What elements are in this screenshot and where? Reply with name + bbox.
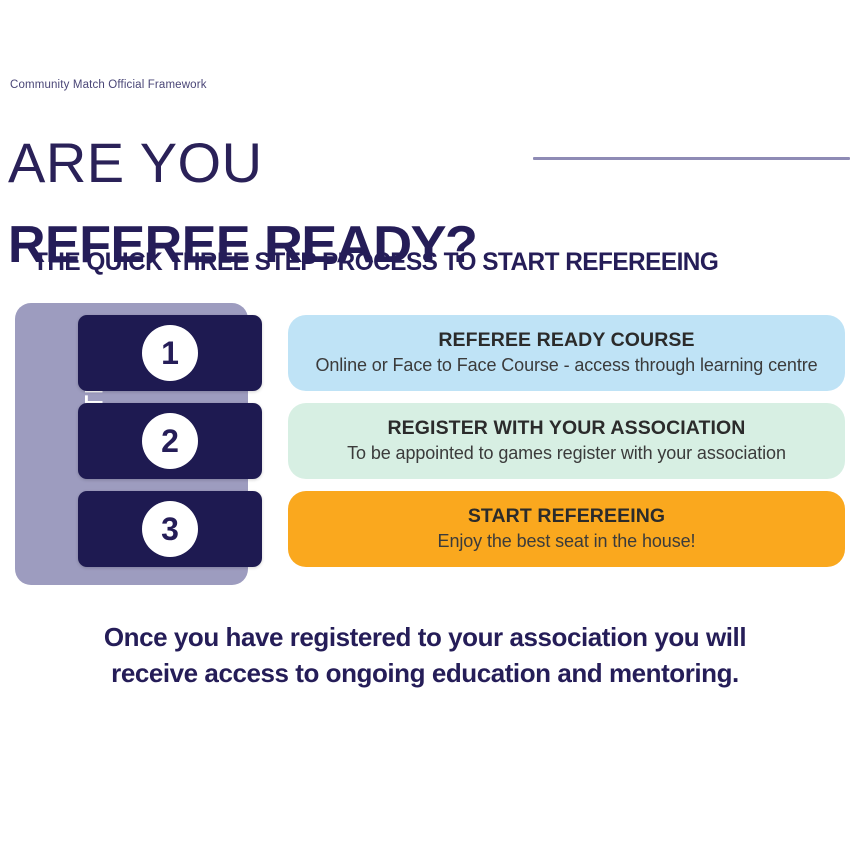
footer-note: Once you have registered to your associa… [0, 620, 850, 692]
step-info-card-1: REFEREE READY COURSE Online or Face to F… [288, 315, 845, 391]
step-number-badge-3: 3 [142, 501, 198, 557]
step-number-card-2: 2 [78, 403, 262, 479]
step-description-3: Enjoy the best seat in the house! [438, 531, 696, 553]
subheading: THE QUICK THREE STEP PROCESS TO START RE… [33, 248, 718, 277]
footer-note-line2: receive access to ongoing education and … [40, 656, 810, 692]
step-info-card-2: REGISTER WITH YOUR ASSOCIATION To be app… [288, 403, 845, 479]
page-title-line1: ARE YOU [8, 134, 263, 193]
step-number-card-1: 1 [78, 315, 262, 391]
header-divider-rule [533, 157, 850, 160]
step-number-badge-2: 2 [142, 413, 198, 469]
eyebrow-text: Community Match Official Framework [10, 79, 207, 91]
step-title-2: REGISTER WITH YOUR ASSOCIATION [388, 417, 746, 440]
step-title-3: START REFEREEING [468, 505, 665, 528]
step-description-1: Online or Face to Face Course - access t… [315, 355, 817, 377]
step-number-badge-1: 1 [142, 325, 198, 381]
step-number-card-3: 3 [78, 491, 262, 567]
step-description-2: To be appointed to games register with y… [347, 443, 786, 465]
step-info-card-3: START REFEREEING Enjoy the best seat in … [288, 491, 845, 567]
infographic-poster: Community Match Official Framework ARE Y… [0, 0, 850, 846]
footer-note-line1: Once you have registered to your associa… [40, 620, 810, 656]
step-title-1: REFEREE READY COURSE [438, 329, 694, 352]
